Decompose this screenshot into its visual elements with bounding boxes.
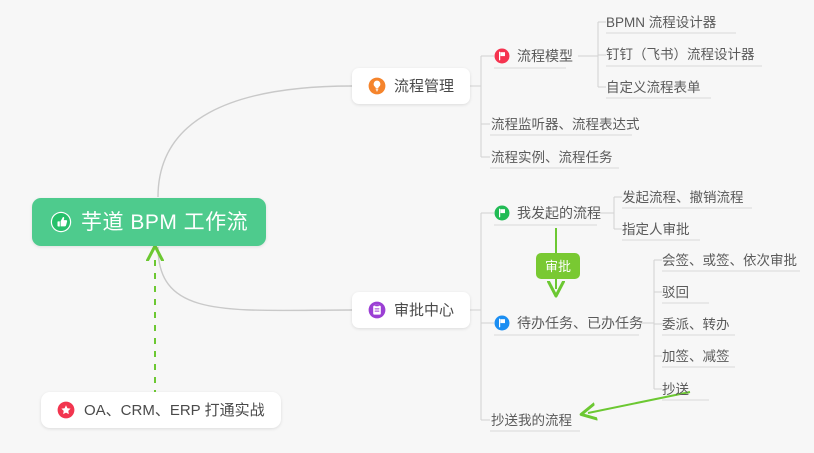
leaf-node-countersign[interactable]: 会签、或签、依次审批	[662, 248, 797, 274]
leaf-node-cc[interactable]: 抄送	[662, 377, 689, 403]
leaf-node-delegate-transfer[interactable]: 委派、转办	[662, 312, 730, 338]
sub-label-process-model: 流程模型	[517, 49, 573, 63]
branch-label-process-management: 流程管理	[394, 79, 454, 94]
leaf-node-assigned-approval[interactable]: 指定人审批	[622, 217, 690, 243]
leaf-label-start-cancel-process: 发起流程、撤销流程	[622, 191, 744, 205]
note-node-integration[interactable]: OA、CRM、ERP 打通实战	[41, 392, 281, 428]
note-label: OA、CRM、ERP 打通实战	[84, 403, 265, 418]
root-node[interactable]: 芋道 BPM 工作流	[32, 198, 266, 246]
star-icon	[57, 401, 75, 419]
leaf-label-assigned-approval: 指定人审批	[622, 223, 690, 237]
link-root-to-process-management	[158, 86, 352, 197]
flag-red-icon	[494, 48, 510, 64]
leaf-label-bpmn-designer: BPMN 流程设计器	[606, 16, 716, 30]
leaf-node-process-listener[interactable]: 流程监听器、流程表达式	[491, 112, 640, 138]
flow-tag-approval[interactable]: 审批	[536, 253, 580, 279]
sub-node-process-model[interactable]: 流程模型	[494, 43, 573, 69]
sub-label-todo-done: 待办任务、已办任务	[517, 316, 643, 330]
branch-node-approval-center[interactable]: 审批中心	[352, 292, 470, 328]
flag-blue-icon	[494, 315, 510, 331]
root-label: 芋道 BPM 工作流	[81, 212, 248, 233]
leaf-label-countersign: 会签、或签、依次审批	[662, 254, 797, 268]
flag-green-icon	[494, 205, 510, 221]
leaf-label-process-listener: 流程监听器、流程表达式	[491, 118, 640, 132]
mindmap-canvas: 芋道 BPM 工作流 流程管理 流程模型 BPMN 流程设计器 钉钉（飞书	[0, 0, 814, 453]
leaf-node-cc-to-me[interactable]: 抄送我的流程	[491, 408, 572, 434]
flow-tag-label: 审批	[545, 260, 571, 273]
leaf-label-custom-form: 自定义流程表单	[606, 81, 701, 95]
leaf-label-cc: 抄送	[662, 383, 689, 397]
leaf-label-delegate-transfer: 委派、转办	[662, 318, 730, 332]
clipboard-icon	[368, 301, 386, 319]
leaf-label-cc-to-me: 抄送我的流程	[491, 414, 572, 428]
link-root-to-approval-center	[158, 247, 352, 310]
sub-node-my-initiated[interactable]: 我发起的流程	[494, 200, 601, 226]
leaf-label-process-instance: 流程实例、流程任务	[491, 151, 613, 165]
lightbulb-icon	[368, 77, 386, 95]
branch-label-approval-center: 审批中心	[394, 303, 454, 318]
leaf-node-add-remove-sign[interactable]: 加签、减签	[662, 344, 730, 370]
branch-node-process-management[interactable]: 流程管理	[352, 68, 470, 104]
leaf-node-custom-form[interactable]: 自定义流程表单	[606, 75, 701, 101]
sub-node-todo-done[interactable]: 待办任务、已办任务	[494, 310, 643, 336]
leaf-label-reject: 驳回	[662, 286, 689, 300]
leaf-label-dingtalk-designer: 钉钉（飞书）流程设计器	[606, 48, 755, 62]
leaf-node-start-cancel-process[interactable]: 发起流程、撤销流程	[622, 185, 744, 211]
leaf-node-reject[interactable]: 驳回	[662, 280, 689, 306]
thumbs-up-icon	[50, 211, 72, 233]
leaf-node-dingtalk-designer[interactable]: 钉钉（飞书）流程设计器	[606, 42, 755, 68]
leaf-node-process-instance[interactable]: 流程实例、流程任务	[491, 145, 613, 171]
sub-label-my-initiated: 我发起的流程	[517, 206, 601, 220]
leaf-node-bpmn-designer[interactable]: BPMN 流程设计器	[606, 10, 716, 36]
leaf-label-add-remove-sign: 加签、减签	[662, 350, 730, 364]
